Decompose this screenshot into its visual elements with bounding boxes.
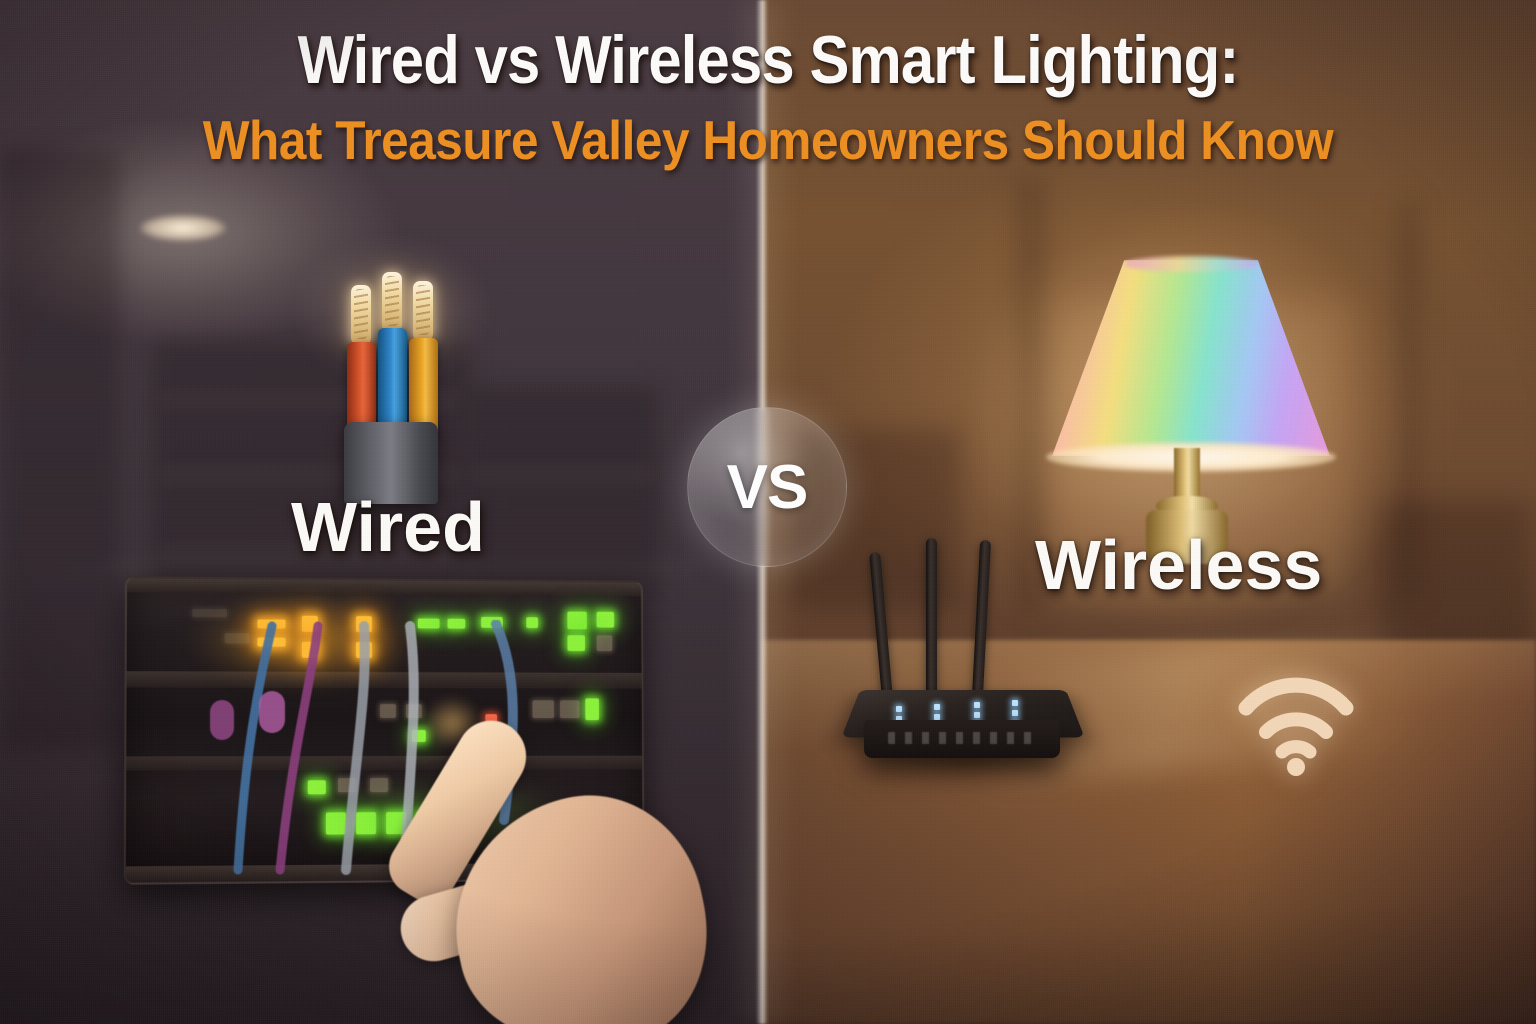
vs-badge: VS [687, 407, 847, 567]
router-led [974, 702, 980, 708]
wire-bundle-icon [316, 272, 466, 492]
router-led [1012, 710, 1018, 716]
router-led [896, 706, 902, 712]
wifi-arc-mid [1266, 719, 1326, 732]
wifi-arc-inner [1282, 747, 1310, 752]
graphic-canvas: VS Wired Wireless Wired vs Wireless Smar… [0, 0, 1536, 1024]
router-led [974, 712, 980, 718]
shelf-board-icon [470, 470, 655, 479]
title-block: Wired vs Wireless Smart Lighting: What T… [0, 26, 1536, 170]
page-subtitle: What Treasure Valley Homeowners Should K… [77, 112, 1459, 170]
rack-bar [127, 578, 641, 596]
ceiling-light-icon [140, 215, 226, 241]
router-antenna-icon [972, 540, 991, 698]
wired-label: Wired [291, 487, 485, 567]
patch-cable-blue [238, 626, 272, 870]
status-led-green [597, 612, 615, 628]
router-led [934, 704, 940, 710]
router-led [1012, 700, 1018, 706]
vs-badge-label: VS [727, 452, 808, 523]
wifi-arc-outer [1246, 685, 1346, 708]
page-title: Wired vs Wireless Smart Lighting: [92, 26, 1444, 95]
router-port-labels [888, 732, 1038, 744]
router-antenna-icon [869, 552, 894, 710]
patch-cable-gray [346, 626, 365, 870]
copper-tip-icon [351, 285, 371, 345]
wall-panel-icon [0, 150, 120, 750]
patch-cable-magenta [280, 626, 318, 870]
rgb-smart-lamp-icon [1034, 250, 1344, 570]
wifi-dot [1287, 758, 1305, 776]
router-antenna-icon [926, 538, 937, 704]
hand-pointing-icon [400, 690, 730, 1024]
wireless-label: Wireless [1035, 525, 1322, 605]
lamp-neck-icon [1174, 448, 1200, 502]
lampshade-top-rim [1124, 256, 1259, 272]
copper-tip-icon [413, 281, 433, 341]
lampshade-rgb-icon [1052, 260, 1330, 456]
copper-tip-icon [382, 272, 402, 332]
status-led-dim [597, 635, 613, 651]
wifi-signal-icon [1236, 672, 1356, 776]
